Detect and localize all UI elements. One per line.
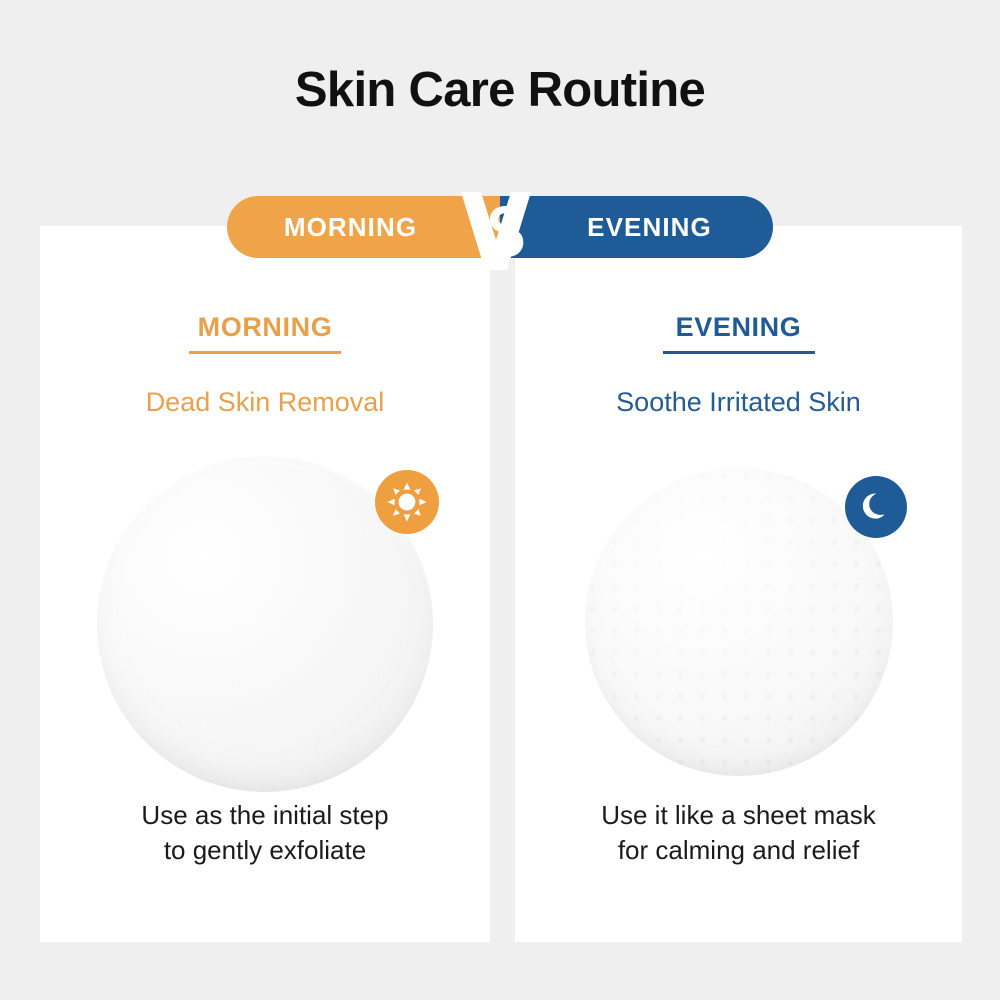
- evening-heading-underline: [663, 351, 815, 354]
- morning-product-image: [97, 456, 433, 792]
- evening-panel-card: EVENING Soothe Irritated Skin Use it lik…: [515, 226, 962, 942]
- morning-vs-evening-bar: MORNING EVENING: [227, 196, 773, 258]
- evening-heading-text: EVENING: [676, 312, 802, 342]
- vs-bar-evening-label: EVENING: [587, 212, 712, 243]
- morning-panel-heading: MORNING: [40, 314, 490, 354]
- evening-panel-heading: EVENING: [515, 314, 962, 354]
- morning-panel-subtitle: Dead Skin Removal: [40, 389, 490, 416]
- vs-bar-morning-label: MORNING: [284, 212, 417, 243]
- moon-icon-badge: [845, 476, 907, 538]
- sun-icon: [387, 482, 427, 522]
- sun-icon-badge: [375, 470, 439, 534]
- vs-bar-evening-half[interactable]: EVENING: [500, 196, 773, 258]
- evening-panel-subtitle: Soothe Irritated Skin: [515, 389, 962, 416]
- vs-bar-morning-half[interactable]: MORNING: [227, 196, 500, 258]
- morning-panel-caption: Use as the initial step to gently exfoli…: [40, 798, 490, 868]
- moon-icon: [858, 489, 894, 525]
- morning-caption-line-2: to gently exfoliate: [40, 833, 490, 868]
- morning-panel-card: MORNING Dead Skin Removal: [40, 226, 490, 942]
- evening-product-image: [585, 468, 893, 776]
- infographic-root: Skin Care Routine MORNING EVENING MORNIN…: [0, 0, 1000, 1000]
- morning-heading-text: MORNING: [198, 312, 333, 342]
- evening-caption-line-1: Use it like a sheet mask: [515, 798, 962, 833]
- morning-caption-line-1: Use as the initial step: [40, 798, 490, 833]
- page-title: Skin Care Routine: [0, 66, 1000, 115]
- morning-heading-underline: [189, 351, 341, 354]
- evening-caption-line-2: for calming and relief: [515, 833, 962, 868]
- evening-panel-caption: Use it like a sheet mask for calming and…: [515, 798, 962, 868]
